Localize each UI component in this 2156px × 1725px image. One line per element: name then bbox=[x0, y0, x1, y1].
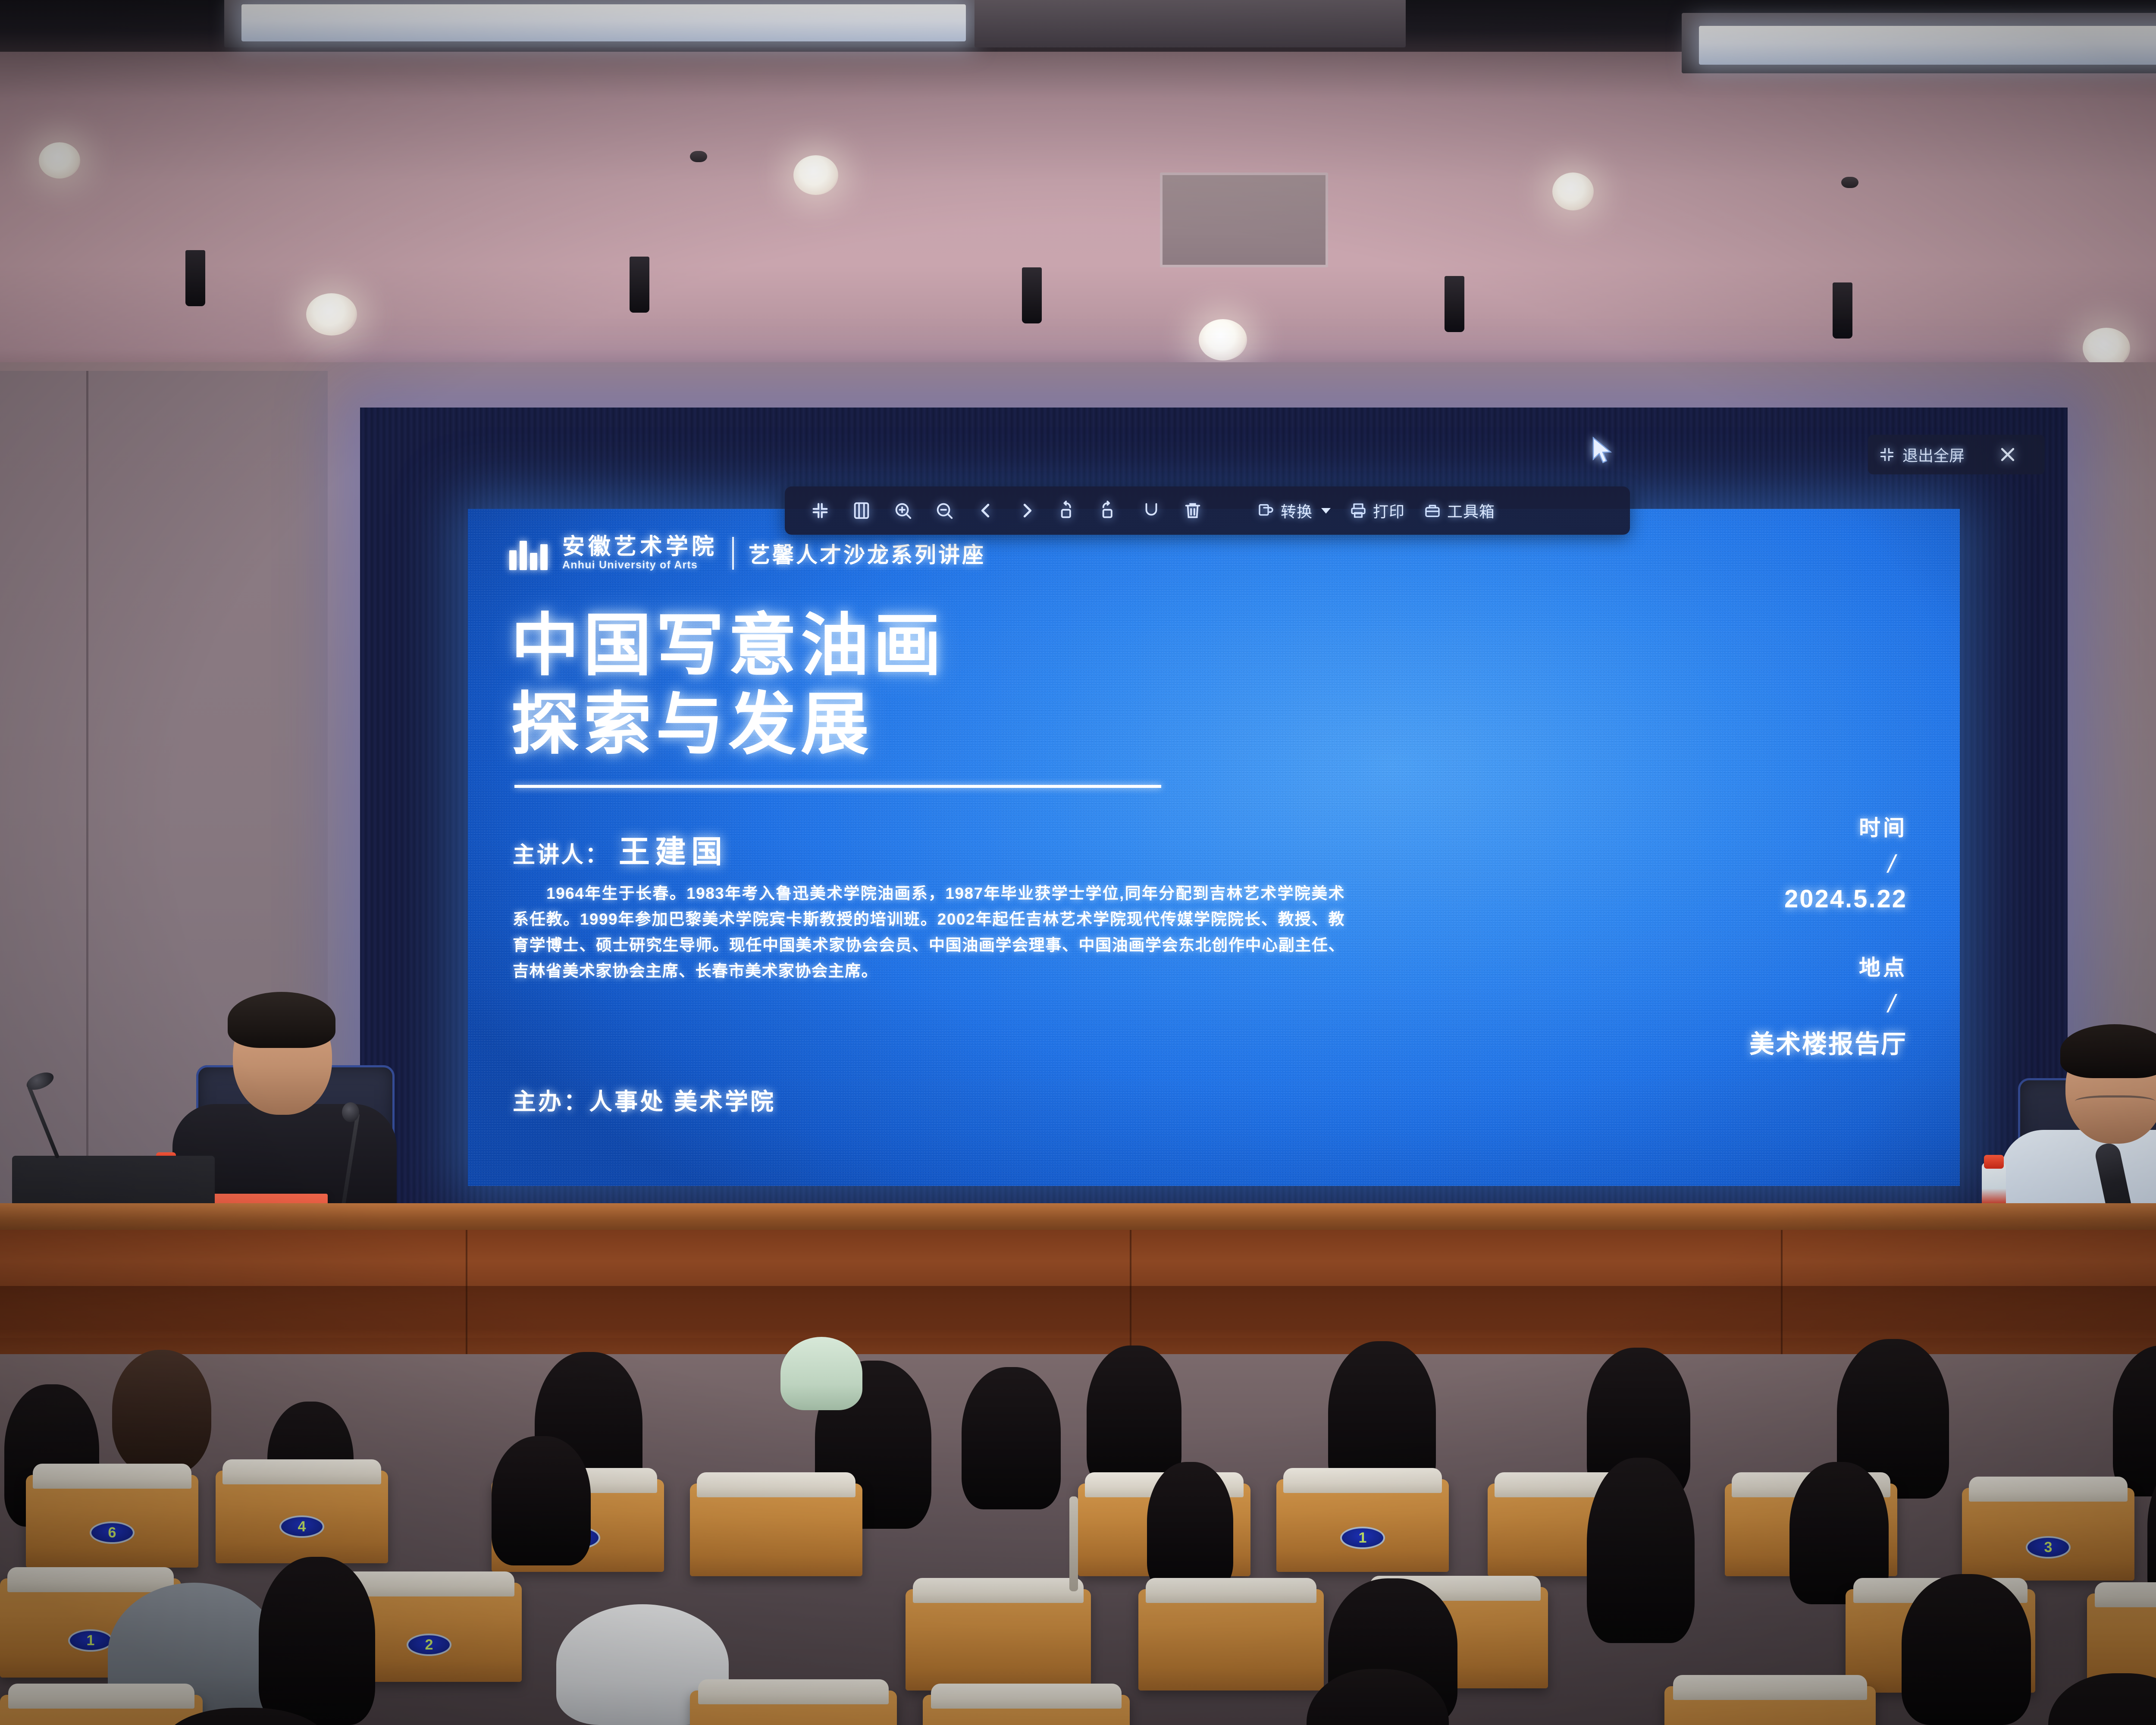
speaker-glasses-icon bbox=[2075, 1095, 2155, 1110]
fluorescent-light-left bbox=[241, 4, 966, 41]
seat-number-badge: 1 bbox=[68, 1629, 113, 1652]
university-name-cn: 安徽艺术学院 bbox=[562, 536, 718, 558]
seat-a4[interactable] bbox=[690, 1483, 862, 1576]
delete-button[interactable] bbox=[1172, 493, 1213, 528]
organizer-line: 主办：人事处 美术学院 bbox=[513, 1082, 776, 1117]
document-viewer-toolbar[interactable]: 转换 打印 工具箱 bbox=[785, 486, 1630, 535]
seat-cushion bbox=[7, 1567, 174, 1592]
zoom-in-button[interactable] bbox=[882, 493, 924, 528]
moderator-hair bbox=[228, 992, 335, 1048]
seat-number-badge: 3 bbox=[2026, 1536, 2071, 1559]
seat-cushion bbox=[1283, 1468, 1442, 1493]
track-light-1 bbox=[185, 250, 205, 306]
place-value: 美术楼报告厅 bbox=[1749, 1024, 1907, 1060]
close-viewer-button[interactable] bbox=[1988, 435, 2028, 474]
university-logo-icon bbox=[509, 536, 548, 570]
smoke-detector-1 bbox=[690, 151, 707, 162]
rotate-left-icon bbox=[1059, 501, 1078, 521]
zoom-out-button[interactable] bbox=[924, 493, 965, 528]
seat-number-badge: 2 bbox=[407, 1634, 451, 1656]
audience-head-b7 bbox=[1087, 1345, 1181, 1488]
convert-label: 转换 bbox=[1281, 499, 1313, 522]
track-light-4 bbox=[1445, 276, 1464, 332]
aisle-divider-center bbox=[1069, 1496, 1078, 1591]
fullscreen-exit-icon bbox=[1879, 447, 1895, 462]
seat-c3[interactable] bbox=[923, 1695, 1130, 1725]
place-label: 地点 bbox=[1859, 950, 1907, 982]
seat-number: 4 bbox=[298, 1518, 306, 1535]
print-button[interactable]: 打印 bbox=[1340, 499, 1414, 522]
seat-c2[interactable]: 2 bbox=[690, 1690, 897, 1725]
zoom-out-icon bbox=[934, 501, 954, 521]
audience-head-m1 bbox=[492, 1436, 591, 1565]
slide-meta-column: 时间 / 2024.5.22 地点 / 美术楼报告厅 bbox=[1605, 811, 1907, 1060]
ceiling-beam-center bbox=[975, 0, 1406, 47]
track-light-5 bbox=[1833, 282, 1852, 339]
next-page-button[interactable] bbox=[1006, 493, 1048, 528]
print-icon bbox=[1350, 502, 1367, 519]
seat-a6[interactable]: 1 bbox=[1276, 1479, 1449, 1572]
audience-head-m6 bbox=[1147, 1462, 1233, 1591]
speaker-hair bbox=[2060, 1024, 2156, 1078]
downlight-2 bbox=[793, 155, 838, 195]
slide-content: 安徽艺术学院 Anhui University of Arts 艺馨人才沙龙系列… bbox=[468, 509, 1960, 1186]
track-light-3 bbox=[1022, 267, 1042, 323]
speaker-label: 主讲人： bbox=[513, 837, 609, 869]
seat-cushion bbox=[1146, 1578, 1316, 1603]
reset-button[interactable] bbox=[1131, 493, 1172, 528]
seat-number-badge: 6 bbox=[90, 1521, 135, 1544]
track-light-2 bbox=[630, 257, 649, 313]
seat-a1[interactable]: 6 bbox=[26, 1475, 198, 1568]
chevron-right-icon bbox=[1017, 501, 1037, 521]
time-value: 2024.5.22 bbox=[1784, 884, 1907, 913]
seat-a2[interactable]: 4 bbox=[216, 1471, 388, 1563]
slide-header: 安徽艺术学院 Anhui University of Arts 艺馨人才沙龙系列… bbox=[509, 536, 986, 571]
projected-slide: 安徽艺术学院 Anhui University of Arts 艺馨人才沙龙系列… bbox=[468, 509, 1960, 1186]
slide-title-line-1: 中国写意油画 bbox=[511, 606, 946, 685]
chevron-left-icon bbox=[976, 501, 996, 521]
audience-head-m2 bbox=[1587, 1458, 1695, 1643]
rotate-left-button[interactable] bbox=[1048, 493, 1089, 528]
downlight-6 bbox=[1199, 319, 1247, 361]
seat-cushion bbox=[2095, 1582, 2156, 1607]
exit-fullscreen-label: 退出全屏 bbox=[1902, 443, 1965, 466]
fit-page-button[interactable] bbox=[841, 493, 882, 528]
seat-cushion bbox=[33, 1464, 191, 1489]
seat-number: 1 bbox=[1359, 1530, 1367, 1546]
moderator-mic-head bbox=[342, 1102, 359, 1122]
time-label: 时间 bbox=[1859, 811, 1907, 842]
toolbox-button[interactable]: 工具箱 bbox=[1414, 499, 1504, 522]
audience-head-b11 bbox=[2113, 1345, 2156, 1496]
speaker-bottle-cap-left bbox=[1984, 1155, 2004, 1169]
rotate-right-icon bbox=[1100, 501, 1120, 521]
wall-seam-1 bbox=[86, 371, 88, 1216]
slide-main-title: 中国写意油画 探索与发展 bbox=[511, 606, 946, 765]
convert-icon bbox=[1257, 502, 1275, 519]
speaker-biography: 1964年生于长春。1983年考入鲁迅美术学院油画系，1987年毕业获学士学位,… bbox=[513, 881, 1345, 984]
seat-number: 1 bbox=[87, 1632, 95, 1649]
seat-number: 2 bbox=[425, 1637, 433, 1653]
slide-title-line-2: 探索与发展 bbox=[511, 685, 946, 764]
header-divider bbox=[732, 537, 734, 570]
rotate-right-button[interactable] bbox=[1089, 493, 1131, 528]
seat-c1[interactable] bbox=[0, 1695, 203, 1725]
downlight-3 bbox=[1552, 172, 1594, 210]
trash-icon bbox=[1183, 501, 1203, 521]
smoke-detector-2 bbox=[1841, 177, 1858, 188]
university-name-en: Anhui University of Arts bbox=[562, 560, 718, 571]
print-label: 打印 bbox=[1373, 499, 1405, 522]
place-slash: / bbox=[1885, 988, 1899, 1020]
chevron-down-icon bbox=[1321, 508, 1331, 514]
convert-menu[interactable]: 转换 bbox=[1248, 499, 1340, 522]
seat-cushion bbox=[931, 1684, 1122, 1709]
seat-cushion bbox=[697, 1472, 856, 1497]
seat-cushion bbox=[344, 1571, 514, 1596]
lecture-hall-scene: 安徽艺术学院 Anhui University of Arts 艺馨人才沙龙系列… bbox=[0, 0, 2156, 1725]
seat-cushion bbox=[8, 1684, 194, 1709]
ceiling-air-vent bbox=[1160, 172, 1328, 267]
seat-cushion bbox=[222, 1459, 381, 1484]
audience-head-f3 bbox=[1902, 1574, 2031, 1725]
ceiling bbox=[0, 0, 2156, 379]
audience-head-b1 bbox=[112, 1350, 211, 1475]
audience-area: 6 4 4 1 3 bbox=[0, 1354, 2156, 1725]
seat-a9[interactable]: 3 bbox=[1962, 1488, 2134, 1581]
downlight-1 bbox=[39, 142, 80, 179]
seat-b3[interactable] bbox=[906, 1589, 1091, 1690]
seat-number-badge: 1 bbox=[1340, 1527, 1385, 1549]
fit-page-icon bbox=[852, 501, 871, 521]
speaker-name: 王建国 bbox=[619, 826, 727, 872]
speaker-row: 主讲人： 王建国 bbox=[513, 826, 727, 872]
seat-c4[interactable]: 3 bbox=[1664, 1686, 1876, 1725]
zoom-in-icon bbox=[893, 501, 913, 521]
title-underline-rule bbox=[514, 785, 1161, 788]
toolbox-icon bbox=[1424, 502, 1441, 519]
fluorescent-light-right bbox=[1699, 26, 2156, 65]
audience-cap-mint bbox=[780, 1337, 862, 1410]
audience-head-b6 bbox=[962, 1367, 1061, 1509]
previous-page-button[interactable] bbox=[965, 493, 1006, 528]
university-logo-text: 安徽艺术学院 Anhui University of Arts bbox=[562, 536, 718, 571]
mouse-cursor-icon bbox=[1591, 436, 1617, 466]
seat-cushion bbox=[913, 1578, 1084, 1603]
refresh-icon bbox=[1141, 501, 1161, 521]
seat-number: 3 bbox=[2044, 1539, 2053, 1556]
lecture-series-title: 艺馨人才沙龙系列讲座 bbox=[749, 538, 986, 569]
fullscreen-toggle-button[interactable] bbox=[799, 493, 841, 528]
seat-b4[interactable] bbox=[1138, 1589, 1324, 1690]
fullscreen-exit-icon bbox=[810, 501, 830, 521]
head-table-surface bbox=[0, 1203, 2156, 1233]
seat-cushion bbox=[698, 1679, 889, 1704]
seat-cushion bbox=[1673, 1675, 1868, 1700]
downlight-5 bbox=[306, 293, 357, 336]
time-slash: / bbox=[1885, 849, 1899, 880]
seat-cushion bbox=[1969, 1477, 2128, 1502]
close-icon bbox=[1998, 445, 2017, 464]
seat-number-badge: 4 bbox=[279, 1515, 324, 1538]
toolbox-label: 工具箱 bbox=[1447, 499, 1495, 522]
audience-head-f1 bbox=[259, 1557, 375, 1725]
seat-number: 6 bbox=[108, 1524, 116, 1541]
audience-head-g2 bbox=[2048, 1673, 2156, 1725]
